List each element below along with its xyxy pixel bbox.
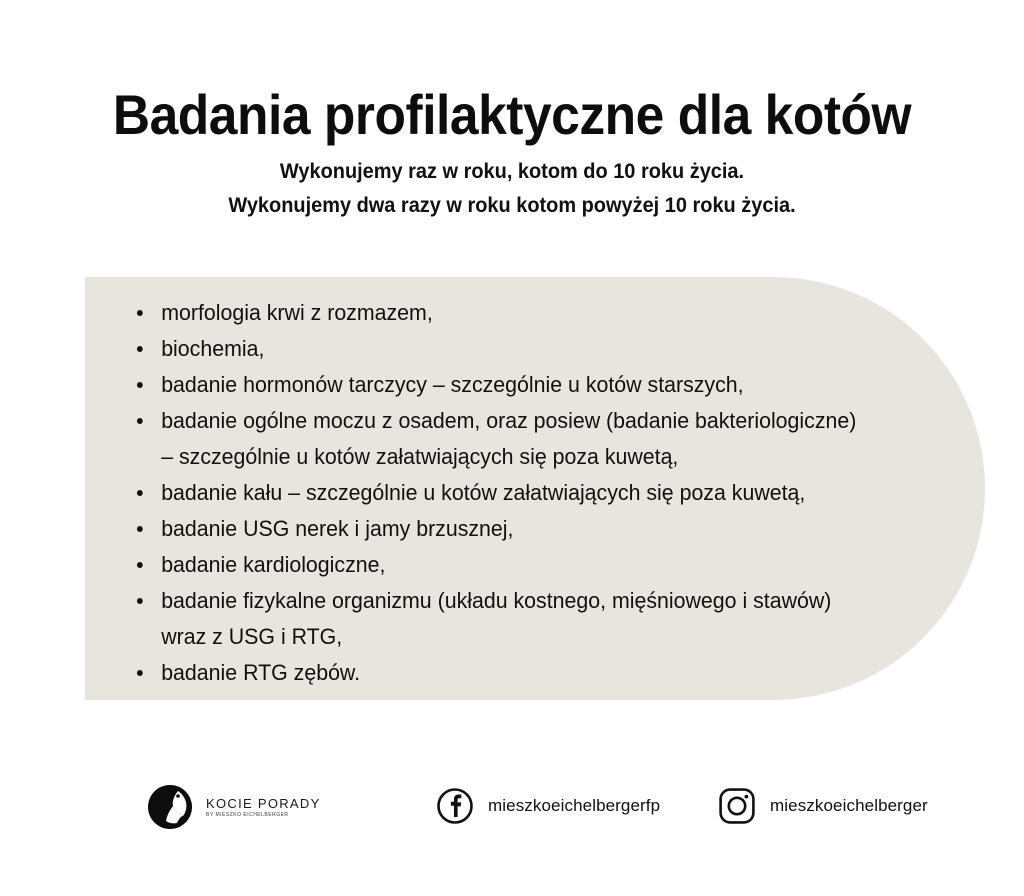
bullet-icon <box>137 382 143 388</box>
content-panel: morfologia krwi z rozmazem, biochemia, b… <box>85 277 985 700</box>
list-item-text: biochemia, <box>161 336 264 361</box>
list-item: morfologia krwi z rozmazem, <box>135 295 856 331</box>
list-item-continuation: wraz z USG i RTG, <box>161 619 856 655</box>
instagram-link[interactable]: mieszkoeichelberger <box>718 787 928 825</box>
page-title: Badania profilaktyczne dla kotów <box>41 0 983 145</box>
list-item-text: badanie RTG zębów. <box>161 660 360 685</box>
subtitle-line-1: Wykonujemy raz w roku, kotom do 10 roku … <box>26 155 999 189</box>
instagram-icon[interactable] <box>718 787 756 825</box>
list-item-text: badanie kardiologiczne, <box>161 552 385 577</box>
list-item-continuation: – szczególnie u kotów załatwiających się… <box>161 439 856 475</box>
list-item: badanie hormonów tarczycy – szczególnie … <box>135 367 856 403</box>
list-item-text: badanie USG nerek i jamy brzusznej, <box>161 516 513 541</box>
poster-canvas: Badania profilaktyczne dla kotów Wykonuj… <box>0 0 1024 896</box>
list-item-text: morfologia krwi z rozmazem, <box>161 300 433 325</box>
list-item: badanie kału – szczególnie u kotów załat… <box>135 475 856 511</box>
list-item: badanie kardiologiczne, <box>135 547 856 583</box>
bullet-icon <box>137 310 143 316</box>
examination-list: morfologia krwi z rozmazem, biochemia, b… <box>135 295 879 691</box>
list-item-text: badanie fizykalne organizmu (układu kost… <box>161 588 831 613</box>
facebook-link[interactable]: mieszkoeichelbergerfp <box>436 787 660 825</box>
bullet-icon <box>137 670 143 676</box>
list-item: badanie RTG zębów. <box>135 655 856 691</box>
brand-name: KOCIE PORADY <box>206 797 321 810</box>
list-item: badanie USG nerek i jamy brzusznej, <box>135 511 856 547</box>
bullet-icon <box>137 490 143 496</box>
brand-logo: KOCIE PORADY BY MIESZKO EICHELBERGER <box>148 785 321 829</box>
footer: KOCIE PORADY BY MIESZKO EICHELBERGER mie… <box>0 775 1024 855</box>
bullet-icon <box>137 562 143 568</box>
header: Badania profilaktyczne dla kotów Wykonuj… <box>0 0 1024 223</box>
list-item: biochemia, <box>135 331 856 367</box>
list-item-text: badanie hormonów tarczycy – szczególnie … <box>161 372 743 397</box>
list-item: badanie ogólne moczu z osadem, oraz posi… <box>135 403 856 475</box>
list-item: badanie fizykalne organizmu (układu kost… <box>135 583 856 655</box>
brand-subtitle: BY MIESZKO EICHELBERGER <box>206 813 321 818</box>
subtitle-block: Wykonujemy raz w roku, kotom do 10 roku … <box>0 155 1024 223</box>
facebook-handle[interactable]: mieszkoeichelbergerfp <box>488 796 660 816</box>
list-item-text: badanie kału – szczególnie u kotów załat… <box>161 480 805 505</box>
subtitle-line-2: Wykonujemy dwa razy w roku kotom powyżej… <box>26 189 999 223</box>
facebook-icon[interactable] <box>436 787 474 825</box>
brand-text: KOCIE PORADY BY MIESZKO EICHELBERGER <box>206 797 321 818</box>
bullet-icon <box>137 418 143 424</box>
bullet-icon <box>137 526 143 532</box>
cat-logo-icon <box>148 785 192 829</box>
instagram-handle[interactable]: mieszkoeichelberger <box>770 796 928 816</box>
bullet-icon <box>137 346 143 352</box>
bullet-icon <box>137 598 143 604</box>
list-item-text: badanie ogólne moczu z osadem, oraz posi… <box>161 408 856 433</box>
